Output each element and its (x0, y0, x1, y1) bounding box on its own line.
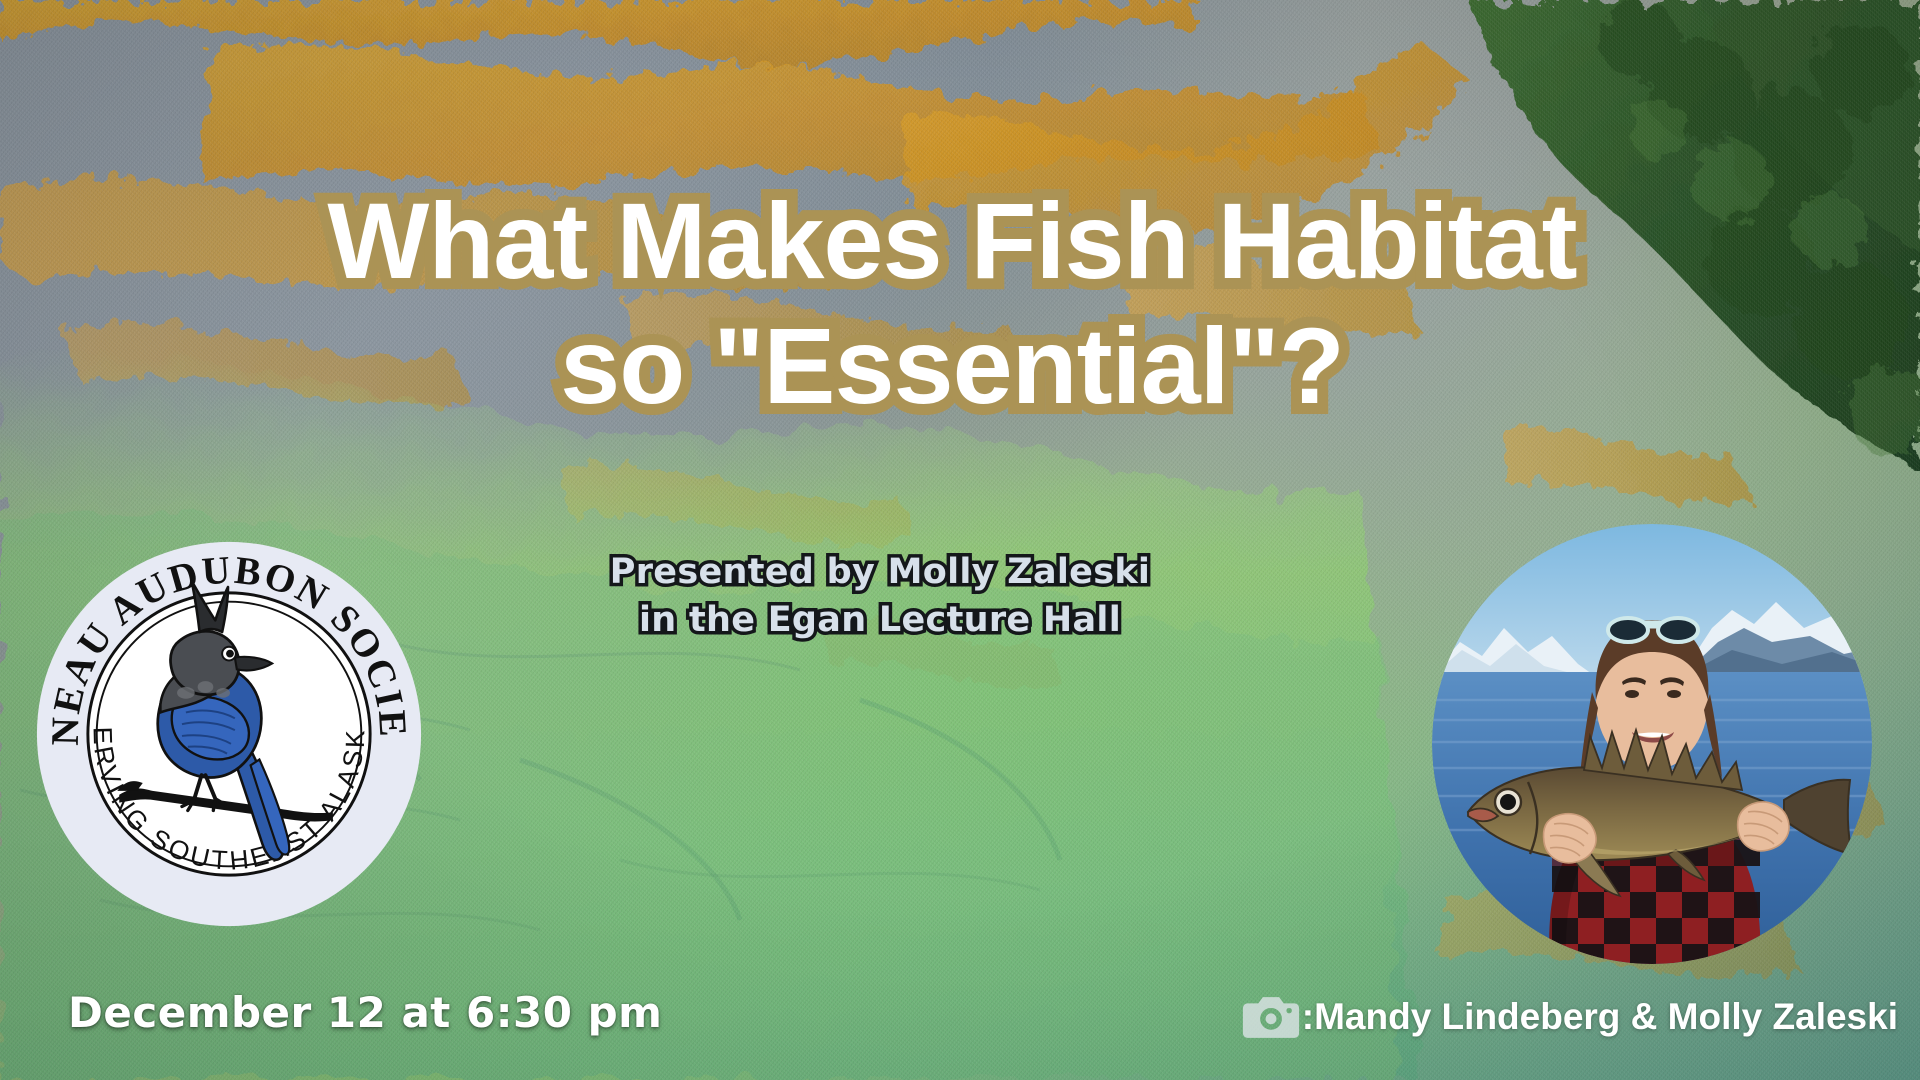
photo-credit-text: :Mandy Lindeberg & Molly Zaleski (1302, 996, 1898, 1038)
juneau-audubon-society-logo: JUNEAU AUDUBON SOCIETY SERVING SOUTHEAST… (33, 538, 425, 930)
poster-title: What Makes Fish Habitat so "Essential"? (0, 178, 1920, 428)
title-line-2: so "Essential"? (0, 303, 1912, 428)
title-line-1: What Makes Fish Habitat (0, 178, 1912, 303)
photo-hand-right (1738, 802, 1789, 851)
camera-icon (1242, 994, 1300, 1040)
logo-svg: JUNEAU AUDUBON SOCIETY SERVING SOUTHEAST… (33, 538, 425, 930)
speaker-photo-svg (1432, 524, 1872, 964)
photo-credit: :Mandy Lindeberg & Molly Zaleski (1242, 994, 1898, 1040)
event-poster: What Makes Fish Habitat so "Essential"? … (0, 0, 1920, 1080)
presenter-venue-line: in the Egan Lecture Hall (520, 596, 1240, 644)
event-date-time: December 12 at 6:30 pm (68, 988, 662, 1037)
speaker-photo (1432, 524, 1872, 964)
presenter-name-line: Presented by Molly Zaleski (520, 548, 1240, 596)
presenter-info: Presented by Molly Zaleski in the Egan L… (520, 548, 1240, 644)
